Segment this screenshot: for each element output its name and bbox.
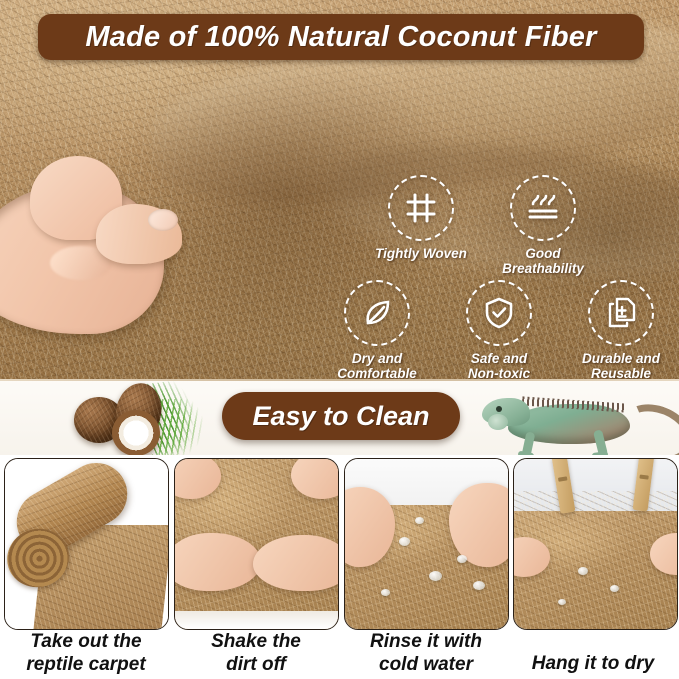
water-droplet [415,517,424,524]
water-droplet [473,581,485,590]
debris-speck [610,585,619,592]
step-captions-row: Take out the reptile carpet Shake the di… [0,630,679,679]
leaf-icon [344,280,410,346]
headline-banner: Made of 100% Natural Coconut Fiber [38,14,644,60]
green-iguana [468,386,679,455]
iguana-dewlap [488,414,508,430]
feature-durable-and-reusable: Durable and Reusable [562,280,679,381]
shield-check-icon [466,280,532,346]
water-droplet [429,571,442,581]
feature-good-breathability: Good Breathability [484,175,602,276]
water-droplet [381,589,390,596]
caption-line2: cold water [342,653,510,676]
feature-label: Tightly Woven [362,246,480,261]
step-caption-take-out: Take out the reptile carpet [2,630,170,676]
step-caption-rinse: Rinse it with cold water [342,630,510,676]
easy-to-clean-text: Easy to Clean [252,401,429,432]
feature-tightly-woven: Tightly Woven [362,175,480,261]
coconuts-and-palm-leaf [30,385,250,455]
step-panel-rinse [344,458,509,630]
feature-label: Safe and Non-toxic [440,351,558,381]
panel-floor [175,611,338,629]
iguana-hind-foot [592,451,609,455]
coconut-halved [112,410,160,455]
step-panel-hang-dry [513,458,678,630]
feature-safe-and-non-toxic: Safe and Non-toxic [440,280,558,381]
debris-speck [558,599,566,605]
feature-label: Dry and Comfortable [318,351,436,381]
cleaning-steps-row [0,458,679,628]
feature-label: Durable and Reusable [562,351,679,381]
hand-on-fiber [0,150,180,335]
caption-line2: reptile carpet [2,653,170,676]
step-caption-hang-dry: Hang it to dry [509,630,677,675]
caption-line2: dirt off [172,653,340,676]
headline-text: Made of 100% Natural Coconut Fiber [85,21,596,54]
feature-label-line1: Durable and [562,351,679,366]
hand-fingernail [148,209,178,231]
feature-label: Good Breathability [484,246,602,276]
breathability-icon [510,175,576,241]
step-panel-take-out [4,458,169,630]
band-top-divider [0,379,679,381]
product-infographic: Made of 100% Natural Coconut Fiber Tight… [0,0,679,679]
caption-line1: Take out the [2,630,170,653]
debris-speck [578,567,588,575]
iguana-front-foot [518,451,535,455]
feature-dry-and-comfortable: Dry and Comfortable [318,280,436,381]
feature-label-line1: Safe and [440,351,558,366]
water-droplet [399,537,410,546]
easy-to-clean-badge: Easy to Clean [222,392,460,440]
step-caption-shake-off: Shake the dirt off [172,630,340,676]
layers-icon [588,280,654,346]
caption-line1: Hang it to dry [509,652,677,675]
caption-line1: Shake the [172,630,340,653]
water-droplet [457,555,467,563]
feature-icon-group: Tightly Woven Good Breathability Dry and [330,175,675,380]
step-panel-shake-off [174,458,339,630]
caption-line1: Rinse it with [342,630,510,653]
feature-label-line1: Dry and [318,351,436,366]
woven-grid-icon [388,175,454,241]
iguana-eye [496,406,502,412]
hand-right [253,535,339,591]
